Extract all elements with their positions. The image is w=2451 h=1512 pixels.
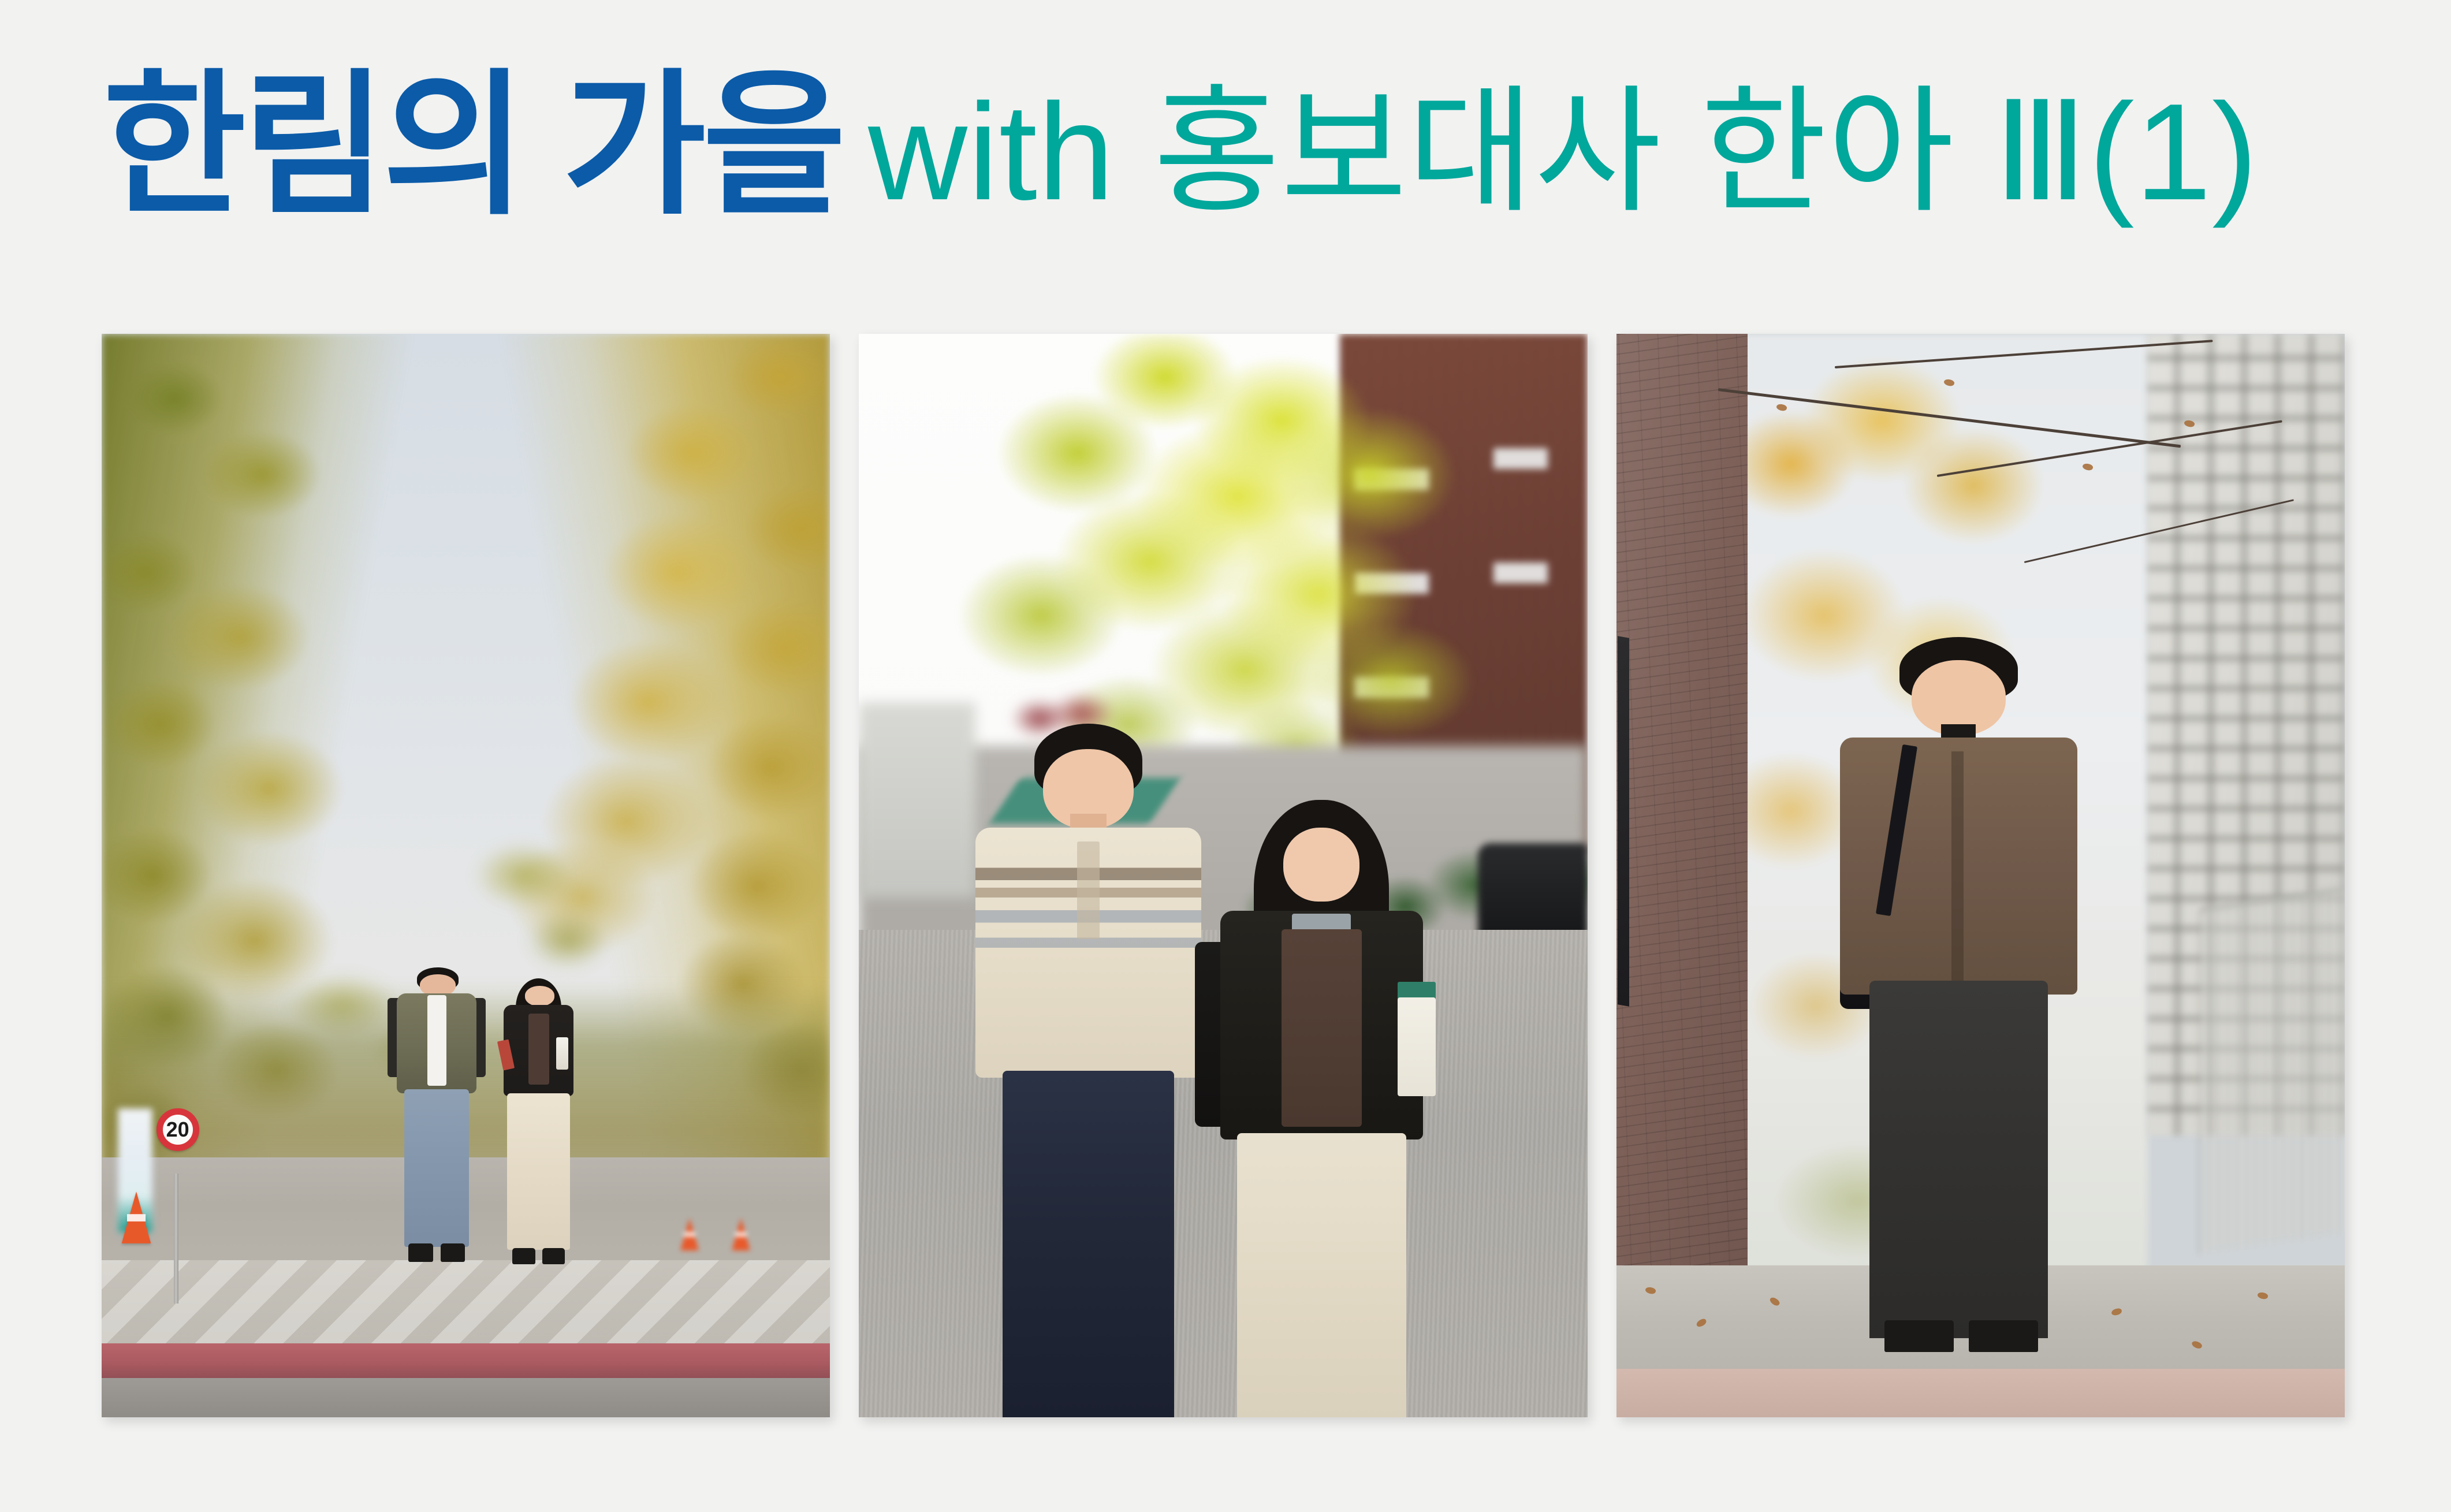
shoe <box>1884 1320 1954 1353</box>
shoe <box>512 1248 535 1264</box>
person-male-student <box>1835 637 2083 1352</box>
foreground-asphalt <box>102 1378 830 1417</box>
wide-pants <box>507 1093 570 1249</box>
person-male-student <box>389 967 484 1271</box>
person-female-student <box>495 978 582 1273</box>
side-building <box>859 702 975 897</box>
shoe <box>408 1243 433 1262</box>
steel-handrail <box>2199 887 2345 1254</box>
title-subtitle-text: with 홍보대사 한아 Ⅲ(1) <box>868 84 2258 221</box>
person-male-student <box>975 724 1201 1417</box>
brick-wall <box>1616 334 1748 1417</box>
speed-limit-sign: 20 <box>157 1108 199 1151</box>
cardigan-placket <box>1951 751 1964 980</box>
face <box>1283 828 1359 902</box>
shoe <box>441 1243 465 1262</box>
title-main-text: 한림의 가을 <box>103 68 843 224</box>
red-pavement-band <box>102 1343 830 1380</box>
inner-top <box>528 1014 549 1084</box>
poster-page: 한림의 가을 with 홍보대사 한아 Ⅲ(1) 20 <box>0 0 2451 1512</box>
tumbler <box>1398 997 1436 1096</box>
shoe <box>1969 1320 2038 1353</box>
face <box>525 986 554 1006</box>
page-title: 한림의 가을 with 홍보대사 한아 Ⅲ(1) <box>103 68 2355 259</box>
person-female-student <box>1216 800 1427 1417</box>
photo-card-2[interactable] <box>859 334 1587 1417</box>
jeans <box>1003 1071 1174 1417</box>
lower-step <box>1616 1369 2345 1417</box>
sign-post <box>174 1174 178 1304</box>
traffic-cone <box>681 1217 699 1250</box>
traffic-cone <box>122 1192 151 1244</box>
jeans <box>404 1089 468 1247</box>
wide-pants <box>1237 1133 1406 1417</box>
photo-card-3[interactable] <box>1616 334 2345 1417</box>
wall-window <box>1618 636 1629 1006</box>
photo-gallery: 20 <box>102 334 2345 1417</box>
photo-card-1[interactable]: 20 <box>102 334 830 1417</box>
traffic-cone <box>732 1217 750 1250</box>
wide-jeans <box>1869 981 2048 1338</box>
shoe <box>542 1248 565 1264</box>
inner-shirt <box>427 995 446 1086</box>
brown-tee <box>1282 929 1362 1127</box>
drink-cup <box>556 1037 568 1070</box>
sweater-placket <box>1077 841 1100 939</box>
